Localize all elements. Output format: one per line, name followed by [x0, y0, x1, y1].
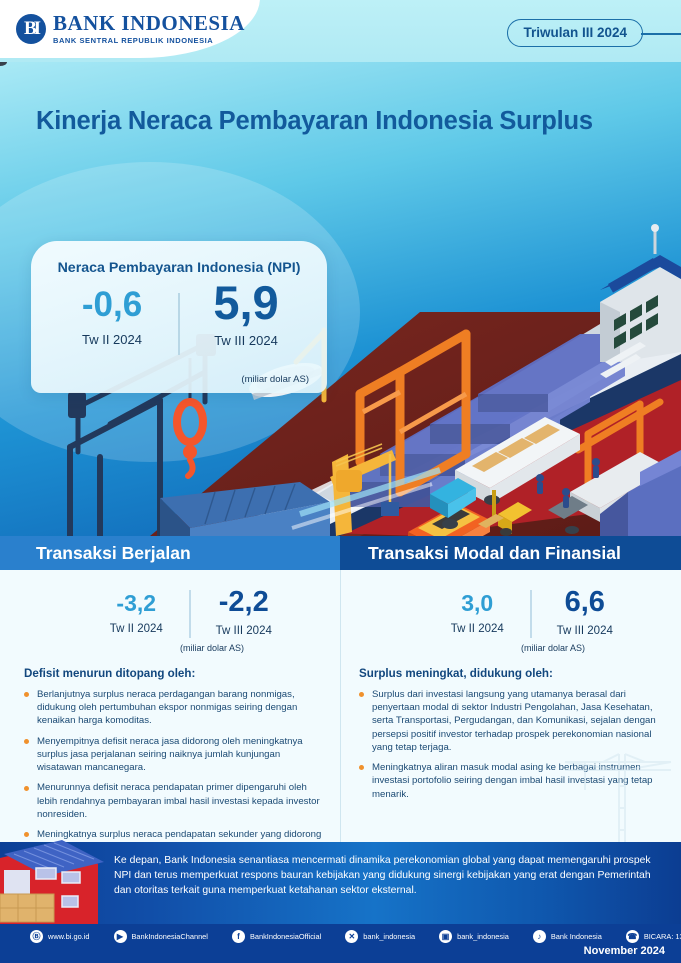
- brand-tagline: BANK SENTRAL REPUBLIK INDONESIA: [53, 36, 245, 45]
- footer-bar: Ⓑ www.bi.go.id ▶ BankIndonesiaChannel f …: [0, 924, 681, 963]
- youtube-icon: ▶: [114, 930, 127, 943]
- social-link-youtube[interactable]: ▶ BankIndonesiaChannel: [114, 930, 208, 943]
- tmf-values: 3,0 Tw II 2024 6,6 Tw III 2024: [341, 570, 681, 638]
- tmf-body-heading: Surplus meningkat, didukung oleh:: [359, 667, 669, 680]
- social-label: BICARA: 131: [644, 932, 681, 941]
- social-label: BankIndonesiaOfficial: [250, 932, 321, 941]
- npi-current-metric: 5,9 Tw III 2024: [180, 287, 312, 348]
- tb-values: -3,2 Tw II 2024 -2,2 Tw III 2024: [0, 570, 340, 638]
- tmf-prev-value: 3,0: [430, 592, 524, 615]
- tmf-bullet-list: Surplus dari investasi langsung yang uta…: [359, 688, 669, 801]
- npi-current-value: 5,9: [180, 279, 312, 326]
- warehouse-illustration: [0, 834, 112, 924]
- closing-banner-text: Ke depan, Bank Indonesia senantiasa menc…: [114, 854, 663, 898]
- panel-transaksi-berjalan: -3,2 Tw II 2024 -2,2 Tw III 2024 (miliar…: [0, 570, 340, 842]
- tb-prev-value: -3,2: [89, 592, 183, 615]
- tmf-prev-metric: 3,0 Tw II 2024: [430, 588, 524, 635]
- tb-prev-label: Tw II 2024: [89, 623, 183, 635]
- page-title: Kinerja Neraca Pembayaran Indonesia Surp…: [36, 106, 596, 137]
- tmf-unit: (miliar dolar AS): [341, 643, 681, 653]
- social-label: Bank Indonesia: [551, 932, 602, 941]
- npi-prev-metric: -0,6 Tw II 2024: [46, 287, 178, 347]
- panel-transaksi-modal-finansial: 3,0 Tw II 2024 6,6 Tw III 2024 (miliar d…: [340, 570, 681, 842]
- social-links: Ⓑ www.bi.go.id ▶ BankIndonesiaChannel f …: [30, 930, 673, 943]
- top-banner: BI BANK INDONESIA BANK SENTRAL REPUBLIK …: [0, 0, 681, 70]
- section-header-transaksi-berjalan: Transaksi Berjalan: [0, 536, 340, 570]
- list-item: Menurunnya defisit neraca pendapatan pri…: [24, 781, 324, 821]
- social-link-callcenter[interactable]: ☎ BICARA: 131: [626, 930, 681, 943]
- bank-indonesia-logo: BI BANK INDONESIA BANK SENTRAL REPUBLIK …: [16, 13, 245, 45]
- tmf-current-value: 6,6: [538, 588, 632, 617]
- closing-banner: Ke depan, Bank Indonesia senantiasa menc…: [0, 842, 681, 924]
- social-link-x-twitter[interactable]: ✕ bank_indonesia: [345, 930, 415, 943]
- tb-bullet-list: Berlanjutnya surplus neraca perdagangan …: [24, 688, 324, 855]
- social-label: bank_indonesia: [363, 932, 415, 941]
- npi-card: Neraca Pembayaran Indonesia (NPI) -0,6 T…: [31, 241, 327, 393]
- tb-body: Defisit menurun ditopang oleh: Berlanjut…: [0, 653, 340, 855]
- list-item: Menyempitnya defisit neraca jasa didoron…: [24, 735, 324, 775]
- npi-prev-value: -0,6: [46, 287, 178, 322]
- period-badge: Triwulan III 2024: [507, 19, 643, 47]
- tiktok-icon: ♪: [533, 930, 546, 943]
- tb-current-label: Tw III 2024: [197, 625, 291, 637]
- tmf-body: Surplus meningkat, didukung oleh: Surplu…: [341, 653, 681, 801]
- section-header-transaksi-modal-finansial: Transaksi Modal dan Finansial: [340, 536, 681, 570]
- social-link-facebook[interactable]: f BankIndonesiaOfficial: [232, 930, 321, 943]
- section-headers: Transaksi Berjalan Transaksi Modal dan F…: [0, 536, 681, 570]
- tb-prev-metric: -3,2 Tw II 2024: [89, 588, 183, 635]
- social-label: www.bi.go.id: [48, 932, 90, 941]
- social-link-tiktok[interactable]: ♪ Bank Indonesia: [533, 930, 602, 943]
- npi-current-label: Tw III 2024: [180, 333, 312, 348]
- npi-card-title: Neraca Pembayaran Indonesia (NPI): [31, 260, 327, 276]
- tmf-divider: [530, 590, 532, 638]
- tmf-current-label: Tw III 2024: [538, 625, 632, 637]
- social-link-website[interactable]: Ⓑ www.bi.go.id: [30, 930, 90, 943]
- badge-connector-line: [641, 33, 681, 35]
- brand-name: BANK INDONESIA: [53, 13, 245, 34]
- tmf-prev-label: Tw II 2024: [430, 623, 524, 635]
- list-item: Berlanjutnya surplus neraca perdagangan …: [24, 688, 324, 728]
- bi-logo-monogram: BI: [24, 18, 38, 40]
- infographic-page: Kinerja Neraca Pembayaran Indonesia Surp…: [0, 0, 681, 963]
- tb-current-metric: -2,2 Tw III 2024: [197, 588, 291, 637]
- facebook-icon: f: [232, 930, 245, 943]
- callcenter-icon: ☎: [626, 930, 639, 943]
- hero-section: Kinerja Neraca Pembayaran Indonesia Surp…: [0, 62, 681, 536]
- tb-unit: (miliar dolar AS): [0, 643, 340, 653]
- social-label: bank_indonesia: [457, 932, 509, 941]
- list-item: Meningkatnya aliran masuk modal asing ke…: [359, 761, 669, 801]
- website-icon: Ⓑ: [30, 930, 43, 943]
- npi-unit: (miliar dolar AS): [241, 374, 309, 385]
- bi-logo-icon: BI: [16, 14, 46, 44]
- instagram-icon: ▣: [439, 930, 452, 943]
- tb-divider: [189, 590, 191, 638]
- social-link-instagram[interactable]: ▣ bank_indonesia: [439, 930, 509, 943]
- sections-container: -3,2 Tw II 2024 -2,2 Tw III 2024 (miliar…: [0, 570, 681, 842]
- tmf-current-metric: 6,6 Tw III 2024: [538, 588, 632, 637]
- x-twitter-icon: ✕: [345, 930, 358, 943]
- tb-current-value: -2,2: [197, 588, 291, 617]
- list-item: Surplus dari investasi langsung yang uta…: [359, 688, 669, 754]
- npi-prev-label: Tw II 2024: [46, 332, 178, 347]
- tb-body-heading: Defisit menurun ditopang oleh:: [24, 667, 324, 680]
- social-label: BankIndonesiaChannel: [132, 932, 208, 941]
- npi-values: -0,6 Tw II 2024 5,9 Tw III 2024: [31, 287, 327, 355]
- publication-date: November 2024: [584, 945, 665, 957]
